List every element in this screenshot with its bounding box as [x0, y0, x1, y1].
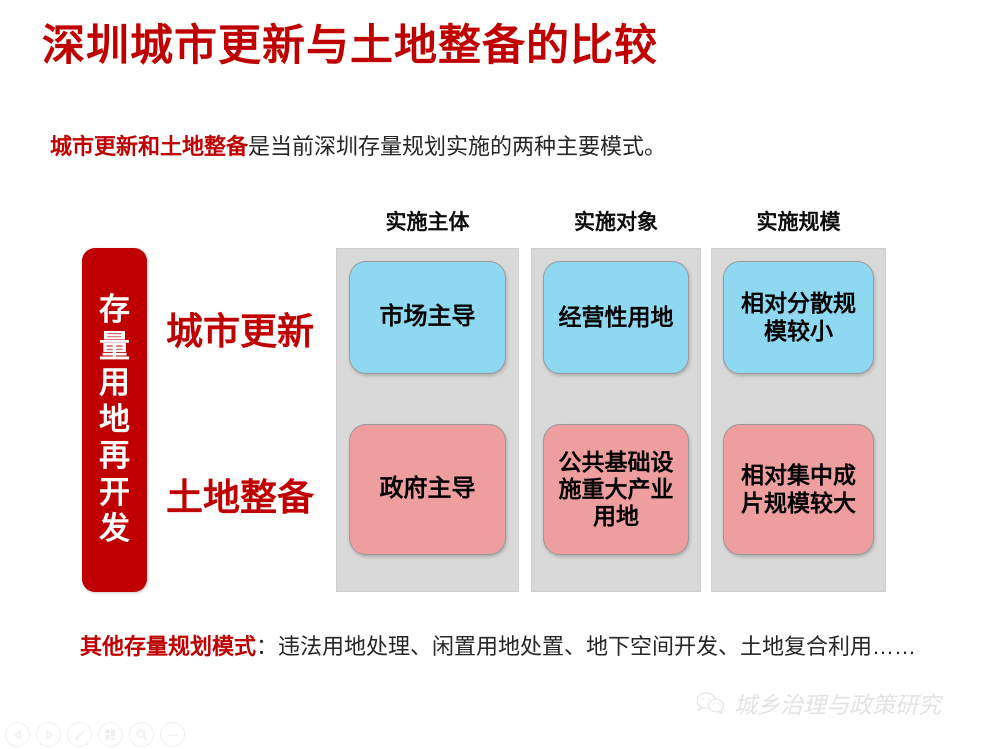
slide-canvas: 深圳城市更新与土地整备的比较 城市更新和土地整备是当前深圳存量规划实施的两种主要… [0, 0, 1000, 749]
footer-note-rest: ：违法用地处理、闲置用地处置、地下空间开发、土地复合利用…… [256, 634, 916, 659]
vertical-bar-char: 用 [99, 365, 130, 402]
footer-note: 其他存量规划模式：违法用地处理、闲置用地处置、地下空间开发、土地复合利用…… [80, 628, 940, 667]
subtitle-line: 城市更新和土地整备是当前深圳存量规划实施的两种主要模式。 [50, 133, 666, 162]
column-header-implementation-object: 实施对象 [531, 206, 701, 236]
vertical-bar-char: 存 [99, 292, 130, 329]
cell-land-consolidation-subject: 政府主导 [349, 424, 506, 555]
search-icon[interactable] [129, 722, 154, 747]
vertical-bar-char: 量 [99, 329, 130, 366]
cell-urban-renewal-object: 经营性用地 [543, 261, 689, 374]
vertical-bar-char: 开 [99, 475, 130, 512]
grid-icon[interactable] [98, 722, 123, 747]
row-label-urban-renewal: 城市更新 [155, 301, 325, 355]
pen-icon[interactable] [67, 722, 92, 747]
next-icon[interactable] [36, 722, 61, 747]
column-header-implementation-scale: 实施规模 [711, 206, 886, 236]
cell-land-consolidation-scale: 相对集中成片规模较大 [723, 424, 874, 555]
vertical-bar-char: 发 [99, 511, 130, 548]
page-title: 深圳城市更新与土地整备的比较 [42, 22, 658, 71]
previous-icon[interactable] [5, 722, 30, 747]
bottom-toolbar[interactable] [5, 722, 185, 747]
column-header-implementation-subject: 实施主体 [336, 206, 519, 236]
vertical-bar-char: 再 [99, 438, 130, 475]
vertical-bar-label: 存量用地再开发 [82, 248, 147, 592]
cell-urban-renewal-subject: 市场主导 [349, 261, 506, 374]
subtitle-highlight: 城市更新和土地整备 [50, 134, 248, 159]
watermark: 城乡治理与政策研究 [695, 686, 941, 720]
watermark-text: 城乡治理与政策研究 [734, 686, 941, 720]
cell-land-consolidation-object: 公共基础设施重大产业用地 [543, 424, 689, 555]
wechat-icon [695, 691, 725, 715]
vertical-bar-char: 地 [99, 402, 130, 439]
more-icon[interactable] [160, 722, 185, 747]
vertical-red-bar: 存量用地再开发 [82, 248, 147, 592]
footer-note-highlight: 其他存量规划模式 [80, 634, 256, 659]
row-label-land-consolidation: 土地整备 [155, 467, 325, 521]
subtitle-rest: 是当前深圳存量规划实施的两种主要模式。 [248, 134, 666, 159]
cell-urban-renewal-scale: 相对分散规模较小 [723, 261, 874, 374]
